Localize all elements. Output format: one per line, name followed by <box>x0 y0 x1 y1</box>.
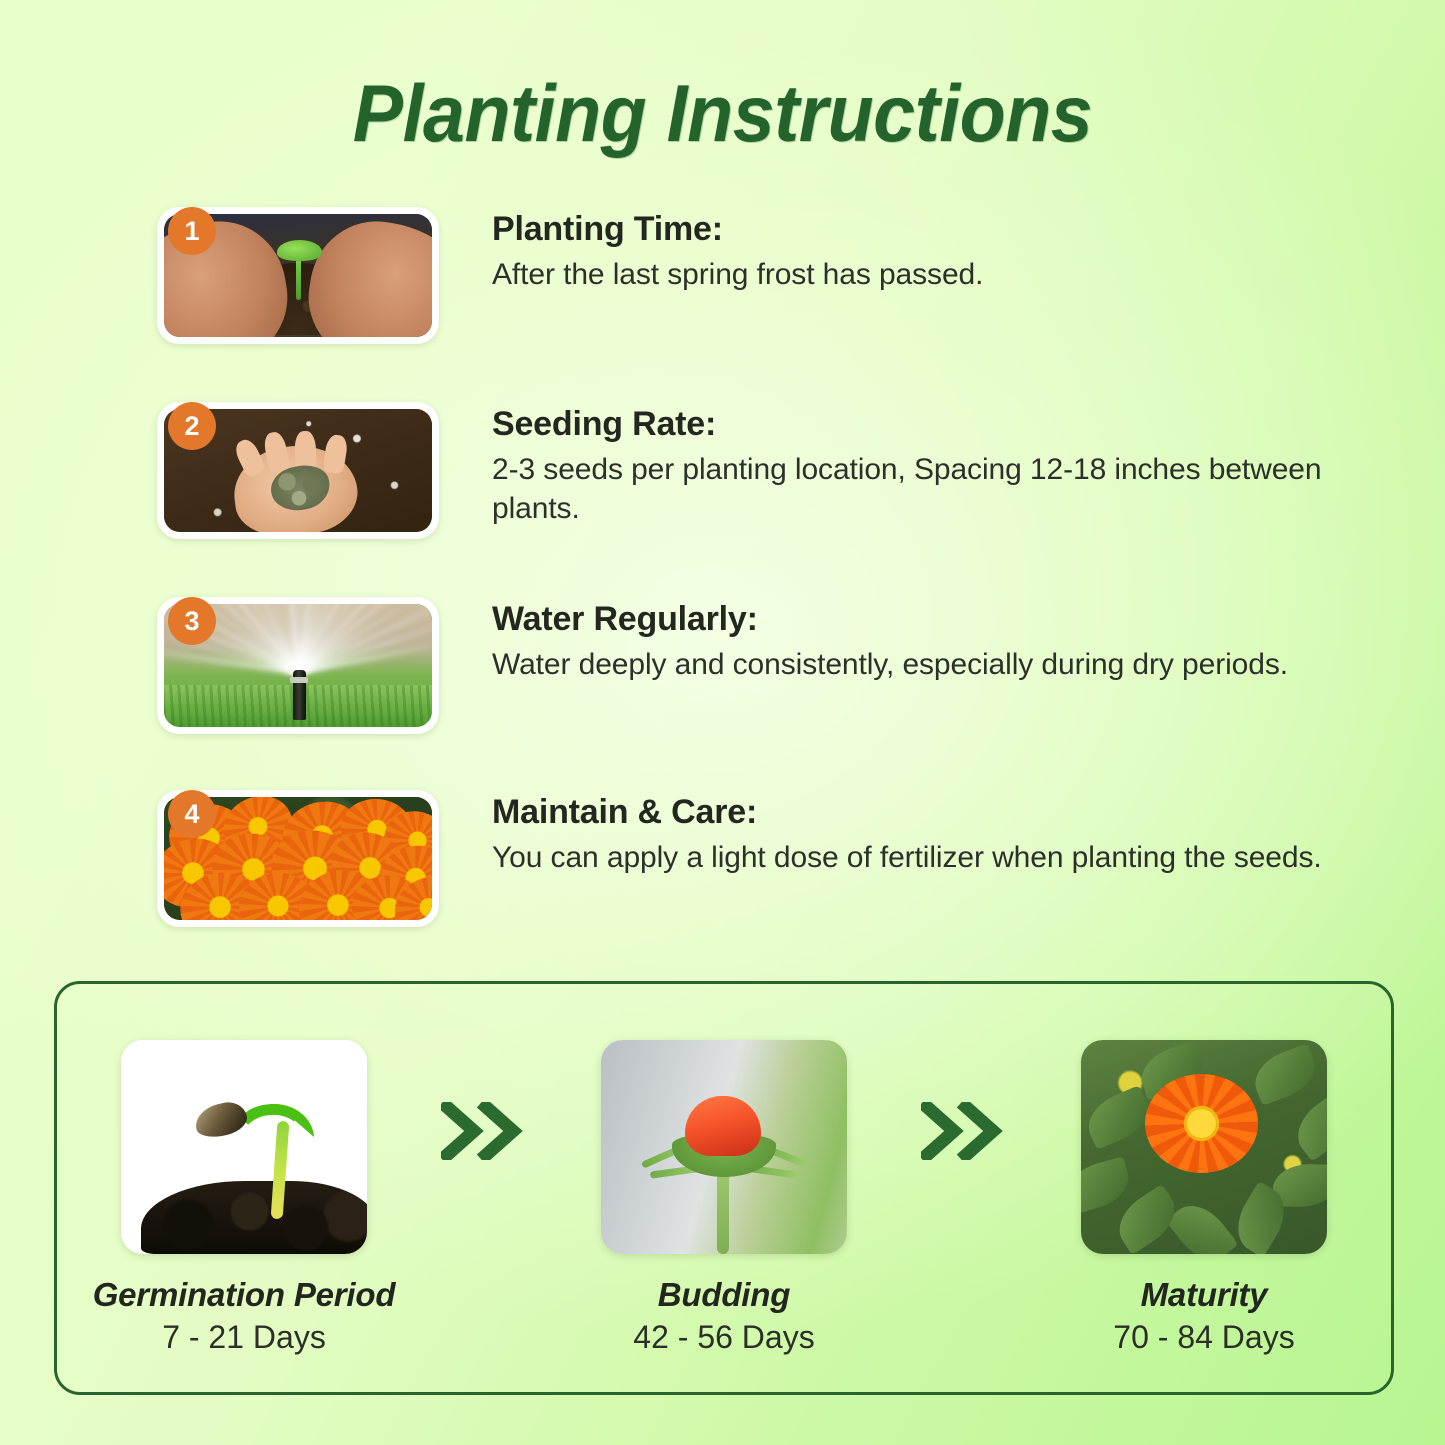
step-description: Water deeply and consistently, especiall… <box>492 645 1372 684</box>
step-thumbnail: 1 <box>157 207 439 344</box>
double-chevron-right-icon <box>909 1102 1019 1160</box>
step-number-badge: 3 <box>168 597 216 645</box>
page-title: Planting Instructions <box>51 74 1395 155</box>
timeline-stage-label: Maturity <box>1141 1276 1268 1314</box>
step-title: Seeding Rate: <box>492 405 1372 444</box>
timeline-stage: Germination Period 7 - 21 Days <box>99 1040 389 1356</box>
step-number-badge: 2 <box>168 402 216 450</box>
step-description: 2-3 seeds per planting location, Spacing… <box>492 450 1372 528</box>
step-thumbnail: 3 <box>157 597 439 734</box>
timeline-stage: Budding 42 - 56 Days <box>579 1040 869 1356</box>
timeline-stage-label: Budding <box>658 1276 790 1314</box>
orange-flower-bud-photo <box>601 1040 847 1254</box>
double-chevron-right-icon <box>429 1102 539 1160</box>
step-description: After the last spring frost has passed. <box>492 255 1372 294</box>
growth-timeline-panel: Germination Period 7 - 21 Days <box>54 981 1394 1395</box>
step-description: You can apply a light dose of fertilizer… <box>492 838 1372 877</box>
step-item: 4 Maintain & Care: You can apply a light… <box>0 771 1445 961</box>
timeline-stage-label: Germination Period <box>93 1276 396 1314</box>
step-thumbnail: 2 <box>157 402 439 539</box>
step-number-badge: 1 <box>168 207 216 255</box>
germinating-seedling-photo <box>121 1040 367 1254</box>
step-item: 2 Seeding Rate: 2-3 seeds per planting l… <box>0 383 1445 573</box>
step-title: Maintain & Care: <box>492 793 1372 832</box>
step-title: Planting Time: <box>492 210 1372 249</box>
planting-instructions-infographic: Planting Instructions 1 Planting Time: <box>0 0 1445 1445</box>
step-number-badge: 4 <box>168 790 216 838</box>
step-item: 3 Water Regularly: Water deeply and cons… <box>0 578 1445 768</box>
timeline-stage-duration: 7 - 21 Days <box>162 1319 326 1356</box>
step-text-block: Planting Time: After the last spring fro… <box>492 210 1372 294</box>
timeline-stage-duration: 70 - 84 Days <box>1113 1319 1294 1356</box>
step-thumbnail: 4 <box>157 790 439 927</box>
timeline-stage-duration: 42 - 56 Days <box>633 1319 814 1356</box>
step-text-block: Seeding Rate: 2-3 seeds per planting loc… <box>492 405 1372 528</box>
step-text-block: Maintain & Care: You can apply a light d… <box>492 793 1372 877</box>
mature-orange-flower-photo <box>1081 1040 1327 1254</box>
timeline-stage: Maturity 70 - 84 Days <box>1059 1040 1349 1356</box>
step-title: Water Regularly: <box>492 600 1372 639</box>
step-text-block: Water Regularly: Water deeply and consis… <box>492 600 1372 684</box>
step-item: 1 Planting Time: After the last spring f… <box>0 188 1445 378</box>
